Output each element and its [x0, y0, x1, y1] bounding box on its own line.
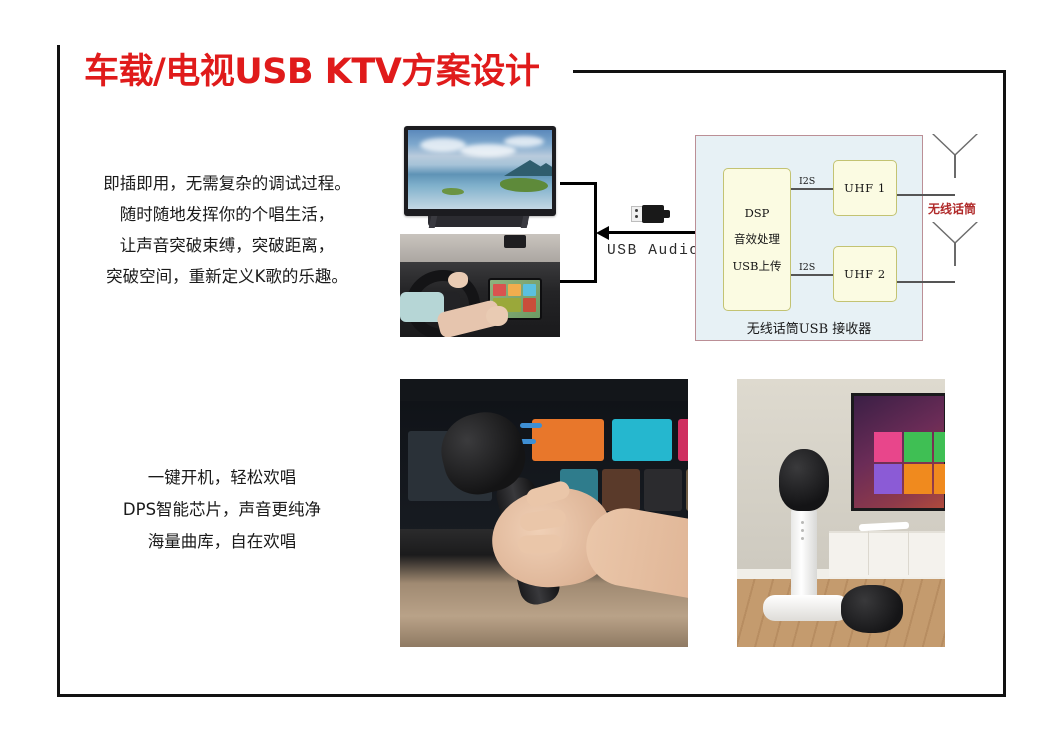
microphone-lying-body [763, 595, 849, 621]
tv-stand [428, 216, 528, 227]
antenna-icon-2 [932, 222, 978, 266]
feature-text-top-line-3: 让声音突破束缚，突破距离， [72, 230, 382, 261]
wireless-mic-label: 无线话筒 [928, 200, 976, 217]
uhf2-block: UHF 2 [833, 246, 897, 302]
i2s-wire-1 [791, 188, 833, 190]
feature-text-top-line-4: 突破空间，重新定义K歌的乐趣。 [72, 261, 382, 292]
antenna-wire-1 [897, 194, 955, 196]
mic-button-3 [801, 537, 804, 540]
i2s-label-1: I2S [799, 176, 815, 187]
mic-in-car-photo [400, 379, 688, 647]
tv-photo [400, 124, 560, 232]
slide-canvas: 车载/电视USB KTV方案设计 即插即用，无需复杂的调试过程。 随时随地发挥你… [0, 0, 1061, 749]
uhf1-block: UHF 1 [833, 160, 897, 216]
i2s-wire-2 [791, 274, 833, 276]
connector-line-tv [560, 182, 597, 185]
frame-border-bottom [57, 694, 1006, 697]
finger-3 [518, 534, 563, 554]
arrow-left-icon [596, 226, 609, 240]
car-windshield [400, 234, 560, 264]
tv-bezel [404, 126, 556, 216]
cabinet-seam-2 [908, 531, 909, 575]
living-room-tv [851, 393, 945, 511]
frame-border-top-rule [573, 70, 1006, 73]
uhf1-label: UHF 1 [844, 181, 886, 195]
mic-button-2 [801, 529, 804, 532]
mics-living-room-photo [737, 379, 945, 647]
connector-line-car [560, 280, 597, 283]
feature-text-bottom: 一键开机，轻松欢唱 DPS智能芯片，声音更纯净 海量曲库，自在欢唱 [72, 462, 372, 558]
driver-hand-upper [448, 272, 468, 288]
receiver-label: 无线话筒USB 接收器 [695, 318, 923, 337]
car-rearview-mirror [504, 235, 526, 248]
feature-text-top-line-1: 即插即用，无需复杂的调试过程。 [72, 168, 382, 199]
dsp-label-line-2: 音效处理 [734, 231, 780, 247]
frame-border-right [1003, 70, 1006, 697]
usb-audio-label: USB Audio [607, 243, 700, 259]
feature-text-top-line-2: 随时随地发挥你的个唱生活， [72, 199, 382, 230]
antenna-icon-1 [932, 134, 978, 178]
frame-border-left [57, 45, 60, 697]
microphone-lying-head [841, 585, 903, 633]
driver-hand-lower [486, 306, 508, 326]
car-interior-photo [400, 234, 560, 337]
page-title: 车载/电视USB KTV方案设计 [84, 43, 539, 94]
tv-cabinet [829, 531, 945, 577]
connector-line-usb [606, 231, 696, 234]
dsp-label-line-3: USB上传 [732, 258, 781, 274]
dsp-label-line-1: DSP [745, 206, 770, 220]
uhf2-label: UHF 2 [844, 267, 886, 281]
microphone-upright-head [779, 449, 829, 511]
feature-text-bottom-line-1: 一键开机，轻松欢唱 [72, 462, 372, 494]
antenna-wire-2 [897, 281, 955, 283]
usb-plug-icon [628, 203, 670, 225]
tv-screen-image [408, 130, 552, 209]
cabinet-seam-1 [868, 531, 869, 575]
dsp-block: DSP 音效处理 USB上传 [723, 168, 791, 311]
tv-foot-right [521, 216, 530, 228]
i2s-label-2: I2S [799, 262, 815, 273]
feature-text-bottom-line-3: 海量曲库，自在欢唱 [72, 526, 372, 558]
mic-button-1 [801, 521, 804, 524]
feature-text-top: 即插即用，无需复杂的调试过程。 随时随地发挥你的个唱生活， 让声音突破束缚，突破… [72, 168, 382, 292]
feature-text-bottom-line-2: DPS智能芯片，声音更纯净 [72, 494, 372, 526]
